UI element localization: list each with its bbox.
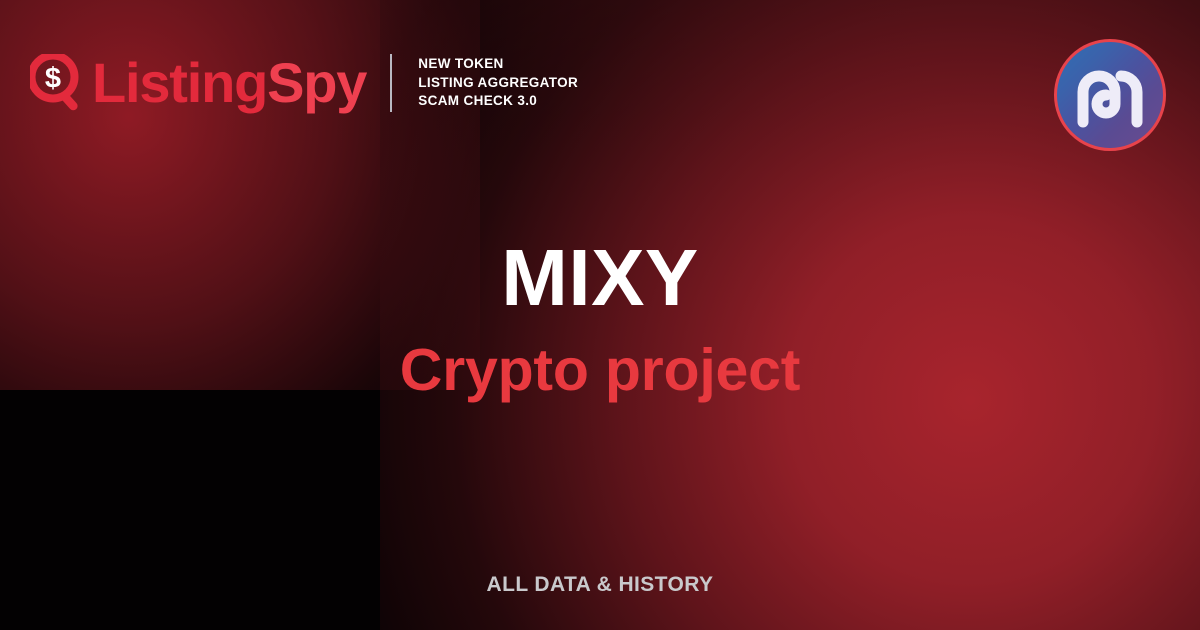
brand-wordmark-spy: Spy [267, 51, 366, 114]
tagline-line-2: LISTING AGGREGATOR [418, 75, 578, 90]
magnifier-dollar-icon: $ [30, 54, 92, 112]
project-headline-block: MIXY Crypto project [0, 236, 1200, 403]
project-name: MIXY [0, 236, 1200, 321]
brand-lockup[interactable]: $ ListingSpy NEW TOKEN LISTING AGGREGATO… [30, 54, 578, 112]
project-kind: Crypto project [0, 337, 1200, 403]
brand-wordmark-listing: Listing [92, 51, 267, 114]
svg-text:$: $ [45, 63, 61, 95]
tagline-line-1: NEW TOKEN [418, 56, 503, 71]
brand-wordmark: ListingSpy [92, 55, 366, 111]
brand-divider [390, 54, 392, 112]
banner-footer: ALL DATA & HISTORY [0, 573, 1200, 597]
token-avatar[interactable] [1054, 39, 1166, 151]
brand-tagline: NEW TOKEN LISTING AGGREGATOR SCAM CHECK … [418, 55, 578, 110]
tagline-line-3: SCAM CHECK 3.0 [418, 93, 537, 108]
banner-header: $ ListingSpy NEW TOKEN LISTING AGGREGATO… [0, 0, 1200, 190]
listingspy-token-banner: $ ListingSpy NEW TOKEN LISTING AGGREGATO… [0, 0, 1200, 630]
footer-text: ALL DATA & HISTORY [487, 573, 714, 596]
mixy-spiral-logo-icon [1073, 60, 1147, 130]
